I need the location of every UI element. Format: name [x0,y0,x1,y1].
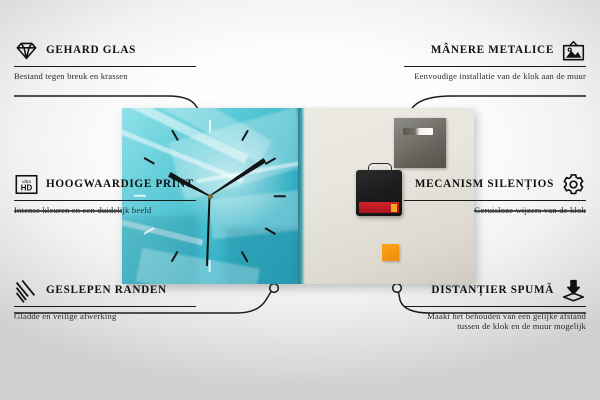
callout-geslepen-randen: GESLEPEN RANDEN Gladde en veilige afwerk… [14,278,196,321]
callout-subtitle: Gladde en veilige afwerking [14,311,196,321]
ultra-hd-icon: ultra HD [14,172,39,197]
callout-hoogwaardige-print: ultra HD HOOGWAARDIGE PRINT Intense kleu… [14,172,196,215]
callout-subtitle: Geruisloze wijzers van de klok [404,205,586,215]
foam-spacer [382,244,399,261]
diagonal-lines-icon [14,278,39,303]
callout-divider [14,306,196,307]
callout-divider [14,66,196,67]
callout-gehard-glas: GEHARD GLAS Bestand tegen breuk en krass… [14,38,196,81]
metal-hanger-plate [394,118,446,168]
callout-title: GESLEPEN RANDEN [46,284,167,296]
wire-endpoint-geslepen-randen [270,284,279,293]
callout-distantier-spuma: DISTANȚIER SPUMĂ Maakt het behouden van … [404,278,586,332]
callout-subtitle: Eenvoudige installatie van de klok aan d… [404,71,586,81]
callout-subtitle: Bestand tegen breuk en krassen [14,71,196,81]
battery [359,202,399,213]
callout-title: HOOGWAARDIGE PRINT [46,178,194,190]
picture-frame-icon [561,38,586,63]
callout-divider [404,66,586,67]
callout-title: MECANISM SILENȚIOS [415,178,554,190]
callout-divider [404,200,586,201]
callout-title: DISTANȚIER SPUMĂ [431,284,554,296]
callout-divider [14,200,196,201]
gear-icon [561,172,586,197]
callout-subtitle: Intense kleuren en een duidelijk beeld [14,205,196,215]
callout-title: MÂNERE METALICE [431,44,554,56]
callout-manere-metalice: MÂNERE METALICE Eenvoudige installatie v… [404,38,586,81]
callout-title: GEHARD GLAS [46,44,136,56]
callout-subtitle: Maakt het behouden van een gelijke afsta… [404,311,586,332]
diamond-icon [14,38,39,63]
callout-mecanism-silentios: MECANISM SILENȚIOS Geruisloze wijzers va… [404,172,586,215]
product-infographic: GEHARD GLAS Bestand tegen breuk en krass… [0,0,600,400]
wire-endpoint-distantier-spuma [393,284,402,293]
clock-center-cap [208,194,213,199]
down-arrow-layers-icon [561,278,586,303]
svg-text:HD: HD [21,183,33,192]
clock-mechanism [356,170,402,216]
callout-divider [404,306,586,307]
